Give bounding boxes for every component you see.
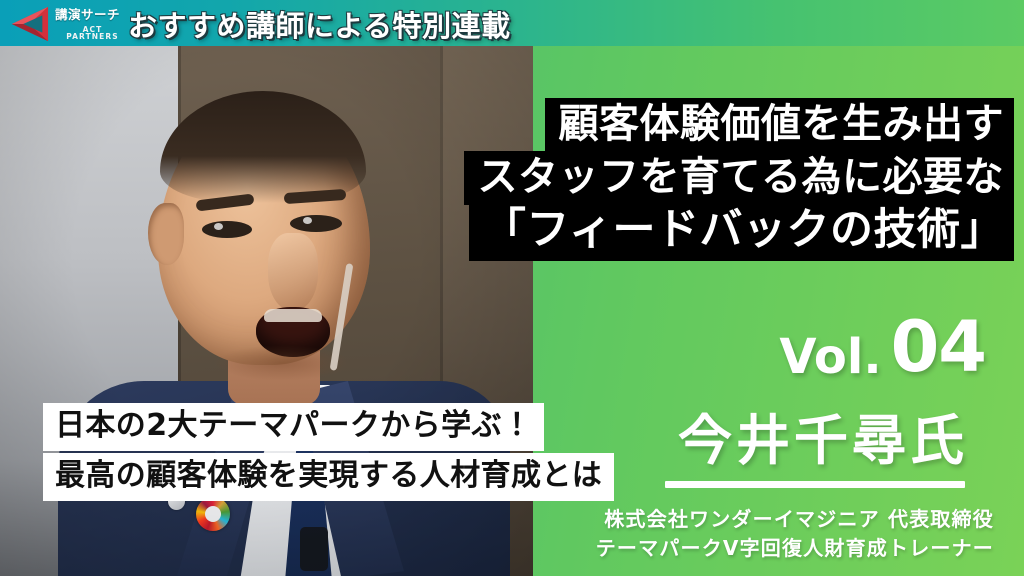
brand-name-en: ACT PARTNERS: [55, 26, 130, 41]
volume-label: Vol.: [779, 335, 881, 379]
volume-badge: Vol. 04: [779, 316, 986, 379]
eye-left: [202, 221, 252, 238]
speaker-banner: 講演サーチ ACT PARTNERS おすすめ講師による特別連載 顧客体験価値を…: [0, 0, 1024, 576]
speaker-credit-line-2: テーマパークV字回復人財育成トレーナー: [596, 534, 994, 563]
brand-logo-text: 講演サーチ ACT PARTNERS: [55, 7, 130, 41]
subtitle-line-1: 日本の2大テーマパークから学ぶ！: [43, 403, 544, 451]
brand-logo[interactable]: 講演サーチ ACT PARTNERS: [8, 2, 130, 46]
volume-number: 04: [891, 316, 986, 379]
main-title-line-2: スタッフを育てる為に必要な: [464, 151, 1015, 205]
subtitle-line-2: 最高の顧客体験を実現する人材育成とは: [43, 453, 614, 501]
ear: [148, 203, 184, 265]
main-title: 顧客体験価値を生み出す スタッフを育てる為に必要な 「フィードバックの技術」: [464, 98, 1015, 260]
nose: [268, 233, 318, 311]
speaker-credits: 株式会社ワンダーイマジニア 代表取締役 テーマパークV字回復人財育成トレーナー: [596, 505, 994, 563]
top-banner: 講演サーチ ACT PARTNERS おすすめ講師による特別連載: [0, 0, 1024, 46]
eye-highlight-left: [214, 223, 223, 230]
main-title-line-3: 「フィードバックの技術」: [469, 204, 1014, 261]
speaker-name-underline: [665, 481, 965, 488]
brand-name-jp: 講演サーチ: [55, 9, 130, 22]
main-title-line-1: 顧客体験価値を生み出す: [545, 98, 1015, 152]
eye-right: [290, 215, 342, 232]
eye-highlight-right: [303, 217, 312, 224]
microphone-pack: [300, 527, 328, 571]
speaker-name: 今井千尋氏: [678, 414, 968, 468]
banner-headline: おすすめ講師による特別連載: [128, 4, 511, 44]
hair: [160, 91, 366, 203]
subtitle: 日本の2大テーマパークから学ぶ！ 最高の顧客体験を実現する人材育成とは: [43, 403, 614, 503]
speaker-credit-line-1: 株式会社ワンダーイマジニア 代表取締役: [596, 505, 994, 534]
triangle-play-left-icon: [8, 4, 50, 44]
teeth: [264, 309, 322, 322]
